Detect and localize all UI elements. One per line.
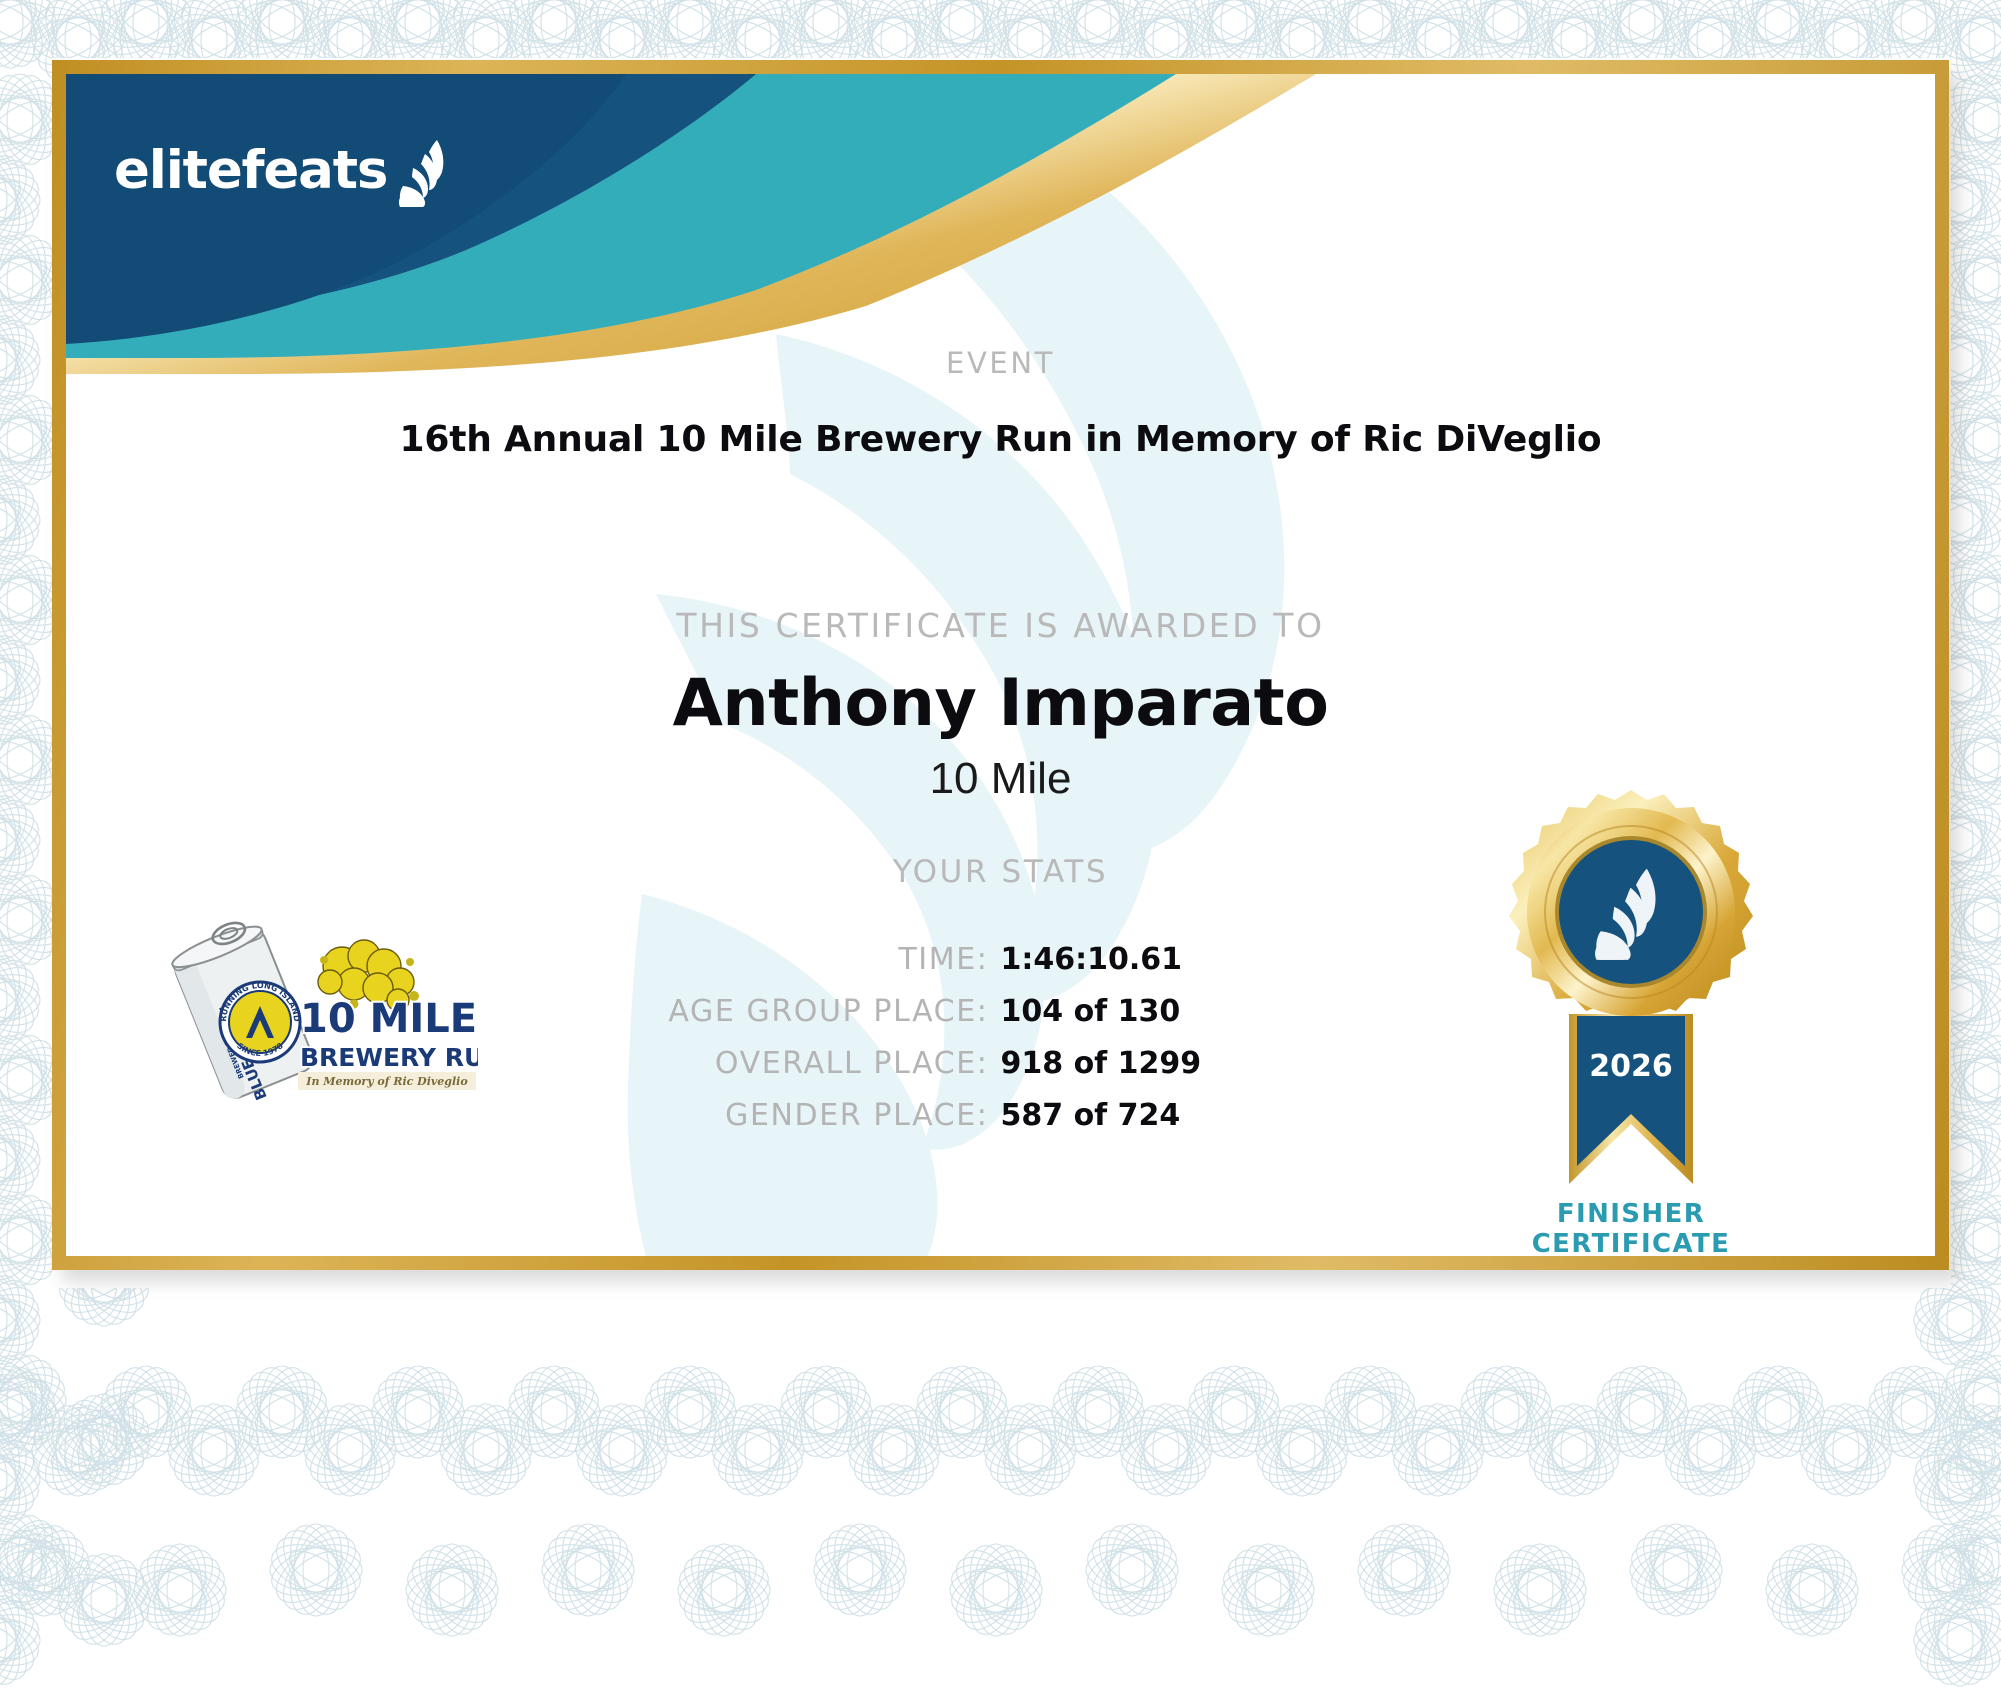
race-logo-title-line2: BREWERY RUN: [300, 1043, 478, 1072]
finisher-medal: 2026: [1481, 784, 1781, 1256]
certificate-content: EVENT 16th Annual 10 Mile Brewery Run in…: [66, 74, 1935, 1256]
medal-year: 2026: [1589, 1049, 1673, 1084]
race-logo-tagline: In Memory of Ric Diveglio: [305, 1075, 467, 1088]
certificate-page: elitefeats EVENT 16th Annual 10 Mile Bre…: [0, 0, 2001, 1700]
certificate-gold-frame: elitefeats EVENT 16th Annual 10 Mile Bre…: [52, 60, 1949, 1270]
certificate-body: elitefeats EVENT 16th Annual 10 Mile Bre…: [66, 74, 1935, 1256]
elitefeats-logo: elitefeats: [114, 132, 455, 208]
stat-label-overall-place: OVERALL PLACE:: [401, 1046, 1001, 1081]
finisher-caption-line2: CERTIFICATE: [1481, 1230, 1781, 1256]
race-logo-title-line1: 10 MILE: [300, 996, 477, 1042]
winged-foot-icon: [393, 138, 455, 208]
stat-label-age-group-place: AGE GROUP PLACE:: [401, 994, 1001, 1029]
race-logo-titles: 10 MILE BREWERY RUN In Memory of Ric Div…: [298, 996, 478, 1090]
recipient-name: Anthony Imparato: [66, 666, 1935, 741]
brewery-run-race-logo: BREWED BY BLUE/POINT: [148, 904, 478, 1104]
award-rosette-icon: 2026: [1481, 784, 1781, 1204]
finisher-caption: FINISHER CERTIFICATE: [1481, 1200, 1781, 1256]
elitefeats-wordmark: elitefeats: [114, 144, 387, 197]
finisher-caption-line1: FINISHER: [1481, 1200, 1781, 1230]
stat-label-time: TIME:: [401, 942, 1001, 977]
awarded-to-label: THIS CERTIFICATE IS AWARDED TO: [66, 606, 1935, 645]
stat-label-gender-place: GENDER PLACE:: [401, 1098, 1001, 1133]
event-label: EVENT: [66, 346, 1935, 380]
event-title: 16th Annual 10 Mile Brewery Run in Memor…: [66, 419, 1935, 460]
running-long-island-badge: RUNNING LONG ISLAND SINCE 1978: [219, 981, 301, 1062]
